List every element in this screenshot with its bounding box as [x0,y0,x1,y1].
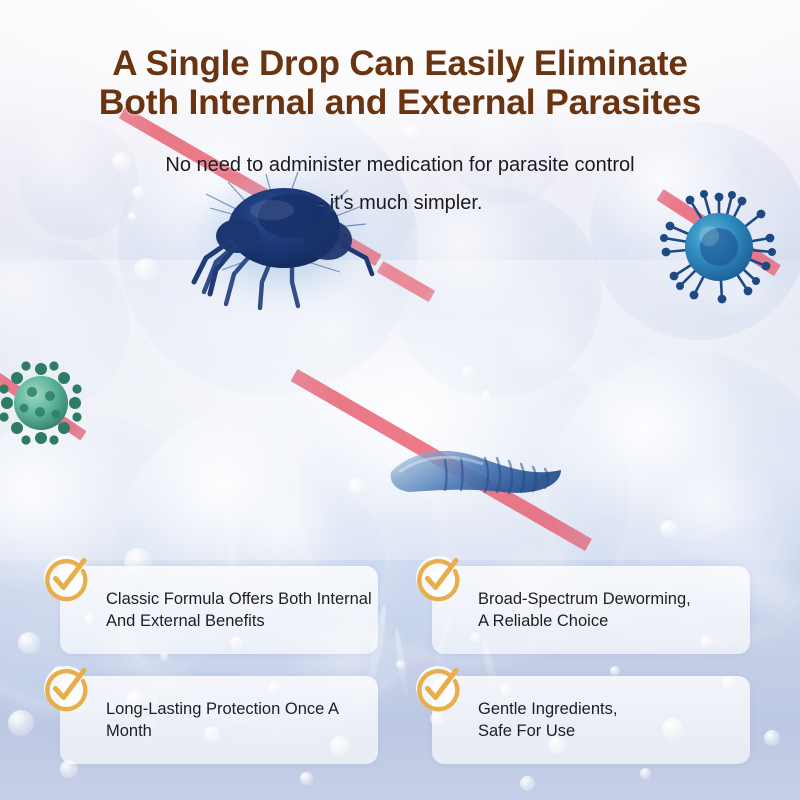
feature-line-1: Classic Formula Offers Both Internal [106,588,368,610]
parasitic-worm-illustration [385,432,575,510]
feature-text: Long-Lasting Protection Once A Month [106,698,368,742]
check-circle-icon [414,554,462,602]
feature-line-2: Safe For Use [478,720,740,742]
feature-line-1: Gentle Ingredients, [478,698,740,720]
feature-list: Classic Formula Offers Both Internal And… [0,566,800,786]
feature-text: Classic Formula Offers Both Internal And… [106,588,368,632]
check-circle-icon [42,554,90,602]
subheadline-line-2: - it's much simpler. [0,184,800,222]
feature-line-1: Broad-Spectrum Deworming, [478,588,740,610]
check-circle-icon [42,664,90,712]
feature-line-1: Long-Lasting Protection Once A [106,698,368,720]
feature-text: Broad-Spectrum Deworming, A Reliable Cho… [478,588,740,632]
feature-item-classic-formula: Classic Formula Offers Both Internal And… [60,566,378,654]
feature-line-2: A Reliable Choice [478,610,740,632]
headline-line-2: Both Internal and External Parasites [0,83,800,122]
banner-headline: A Single Drop Can Easily Eliminate Both … [0,44,800,122]
product-banner: A Single Drop Can Easily Eliminate Both … [0,0,800,800]
feature-row-2: Long-Lasting Protection Once A Month Gen… [0,676,800,786]
banner-subheadline: No need to administer medication for par… [0,146,800,222]
virus-particle-illustration-left [0,360,84,446]
feature-item-gentle-ingredients: Gentle Ingredients, Safe For Use [432,676,750,764]
feature-item-broad-spectrum: Broad-Spectrum Deworming, A Reliable Cho… [432,566,750,654]
feature-row-1: Classic Formula Offers Both Internal And… [0,566,800,676]
subheadline-line-1: No need to administer medication for par… [0,146,800,184]
feature-line-2: Month [106,720,368,742]
feature-text: Gentle Ingredients, Safe For Use [478,698,740,742]
headline-line-1: A Single Drop Can Easily Eliminate [112,44,687,83]
feature-item-long-lasting: Long-Lasting Protection Once A Month [60,676,378,764]
feature-line-2: And External Benefits [106,610,368,632]
check-circle-icon [414,664,462,712]
